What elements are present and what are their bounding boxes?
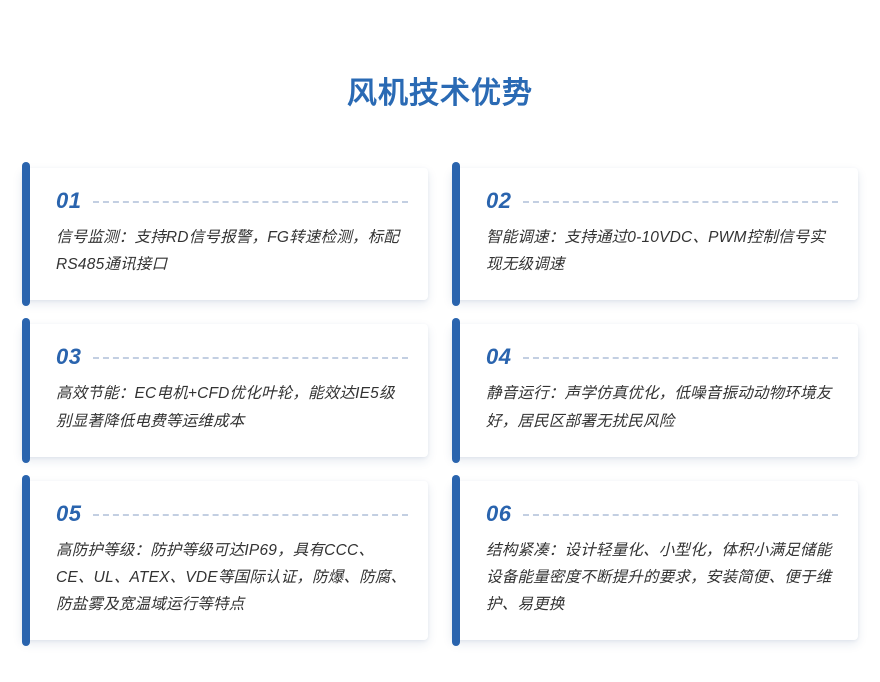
card-header: 06 [486,503,838,525]
dashed-divider-icon [523,514,838,516]
dashed-divider-icon [523,357,838,359]
card-number: 06 [486,503,511,525]
feature-cards-grid: 01 信号监测：支持RD信号报警，FG转速检测，标配RS485通讯接口 02 智… [22,132,858,640]
card-description: 智能调速：支持通过0-10VDC、PWM控制信号实现无级调速 [486,224,838,278]
card-description: 信号监测：支持RD信号报警，FG转速检测，标配RS485通讯接口 [56,224,408,278]
accent-bar-icon [452,318,460,462]
card-description: 高效节能：EC电机+CFD优化叶轮，能效达IE5级别显著降低电费等运维成本 [56,380,408,434]
feature-card-01[interactable]: 01 信号监测：支持RD信号报警，FG转速检测，标配RS485通讯接口 [22,168,428,300]
feature-card-05[interactable]: 05 高防护等级：防护等级可达IP69，具有CCC、CE、UL、ATEX、VDE… [22,481,428,640]
card-number: 03 [56,346,81,368]
card-header: 05 [56,503,408,525]
card-number: 05 [56,503,81,525]
card-number: 02 [486,190,511,212]
dashed-divider-icon [93,514,408,516]
dashed-divider-icon [93,201,408,203]
card-number: 04 [486,346,511,368]
feature-card-02[interactable]: 02 智能调速：支持通过0-10VDC、PWM控制信号实现无级调速 [452,168,858,300]
accent-bar-icon [22,318,30,462]
accent-bar-icon [22,475,30,646]
card-header: 04 [486,346,838,368]
card-header: 03 [56,346,408,368]
dashed-divider-icon [93,357,408,359]
accent-bar-icon [22,162,30,306]
card-header: 02 [486,190,838,212]
dashed-divider-icon [523,201,838,203]
card-description: 高防护等级：防护等级可达IP69，具有CCC、CE、UL、ATEX、VDE等国际… [56,537,408,618]
card-description: 结构紧凑：设计轻量化、小型化，体积小满足储能设备能量密度不断提升的要求，安装简便… [486,537,838,618]
page-root: 风机技术优势 01 信号监测：支持RD信号报警，FG转速检测，标配RS485通讯… [0,20,880,682]
card-header: 01 [56,190,408,212]
feature-card-04[interactable]: 04 静音运行：声学仿真优化，低噪音振动动物环境友好，居民区部署无扰民风险 [452,324,858,456]
card-number: 01 [56,190,81,212]
accent-bar-icon [452,162,460,306]
card-description: 静音运行：声学仿真优化，低噪音振动动物环境友好，居民区部署无扰民风险 [486,380,838,434]
feature-card-03[interactable]: 03 高效节能：EC电机+CFD优化叶轮，能效达IE5级别显著降低电费等运维成本 [22,324,428,456]
feature-card-06[interactable]: 06 结构紧凑：设计轻量化、小型化，体积小满足储能设备能量密度不断提升的要求，安… [452,481,858,640]
accent-bar-icon [452,475,460,646]
page-title: 风机技术优势 [0,20,880,112]
